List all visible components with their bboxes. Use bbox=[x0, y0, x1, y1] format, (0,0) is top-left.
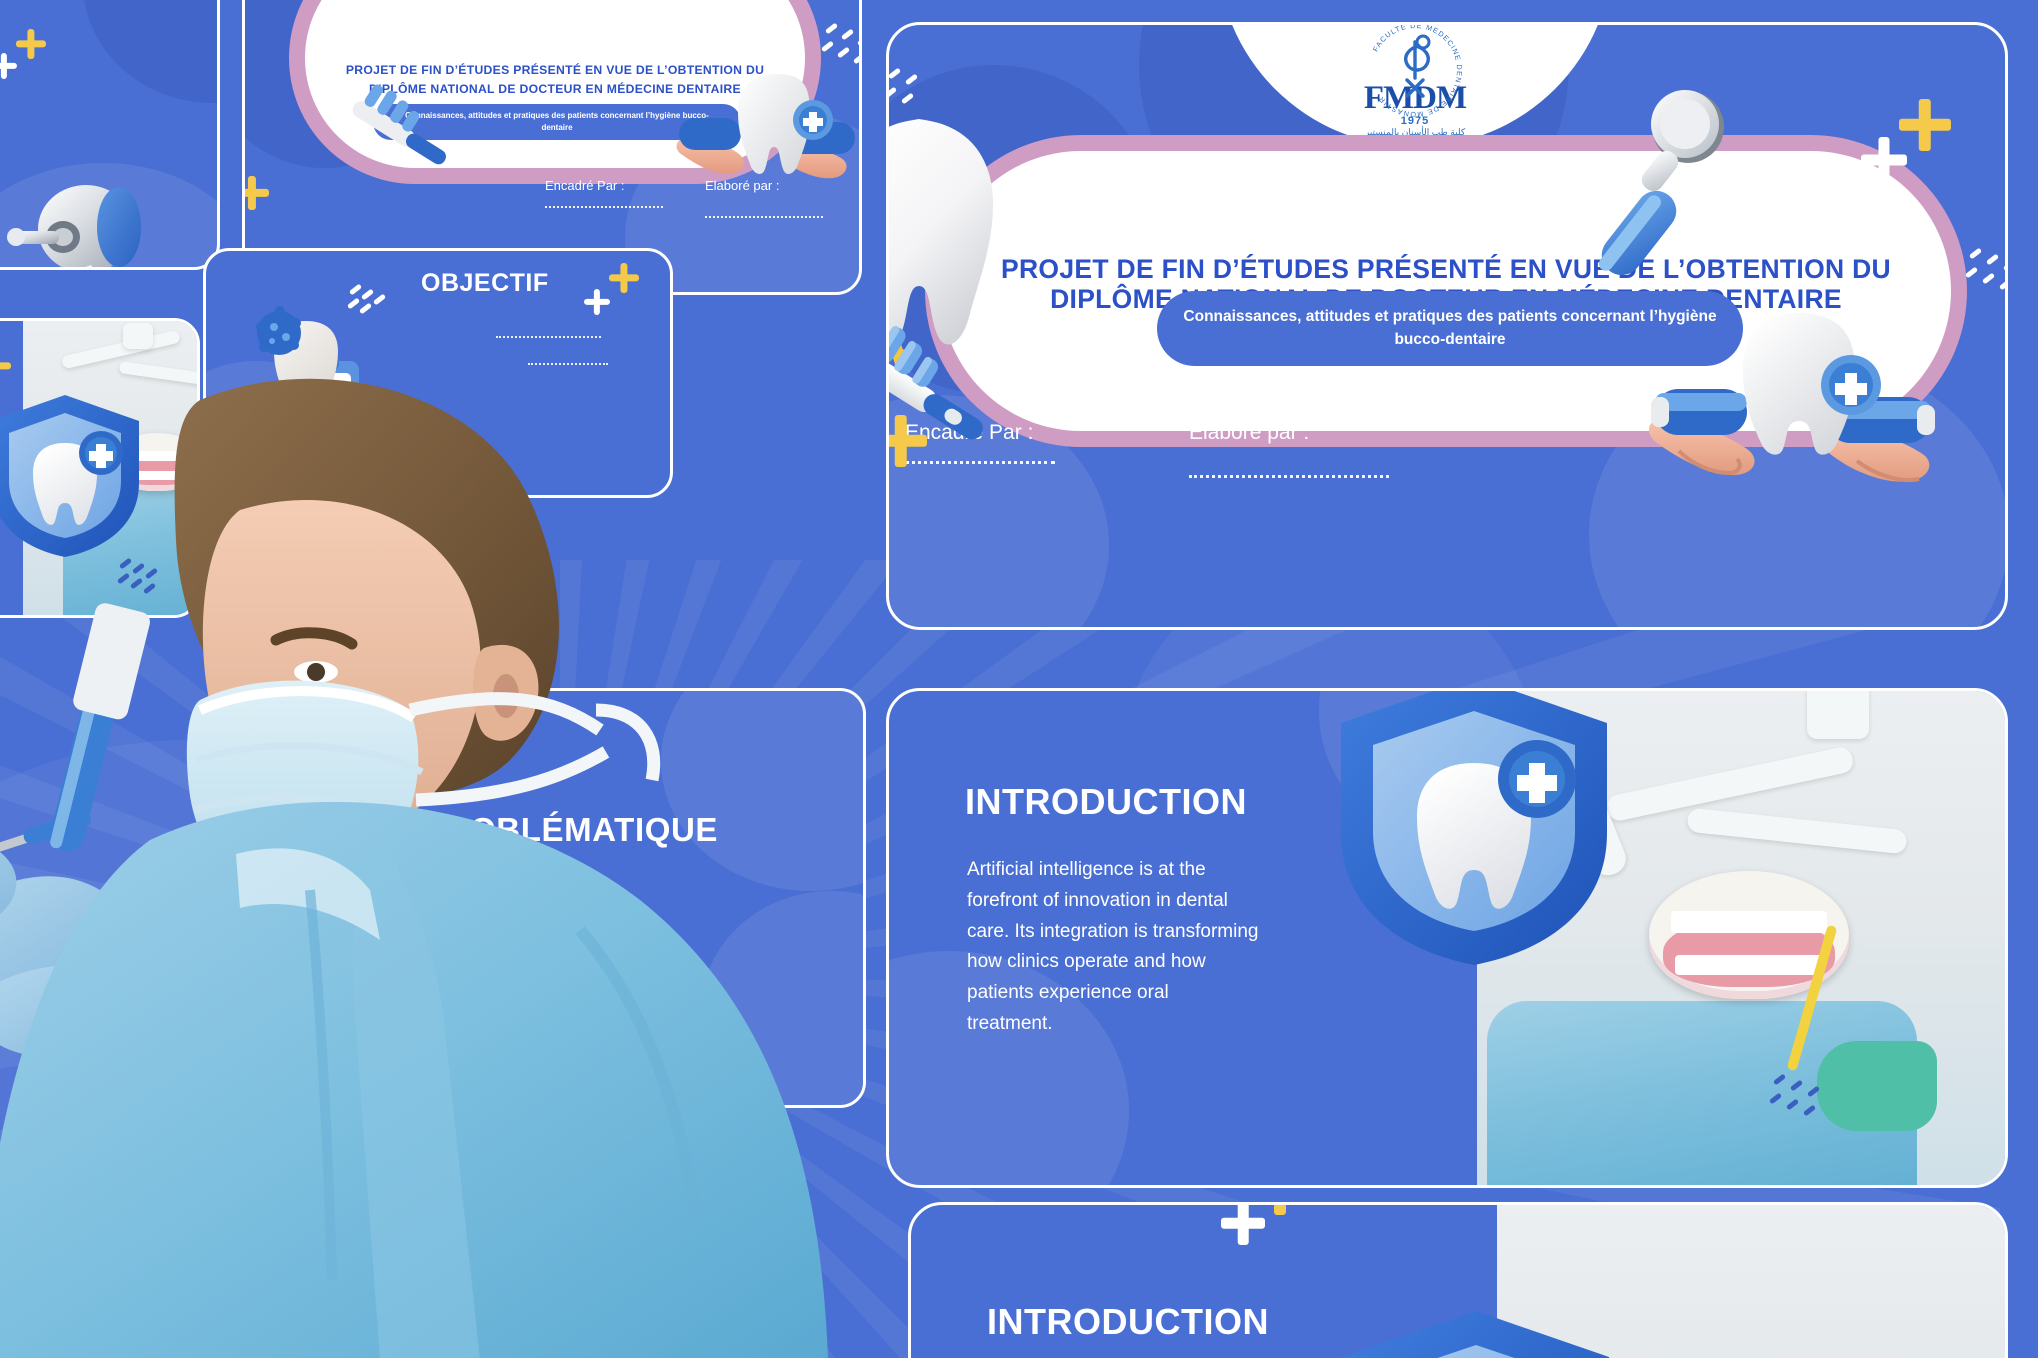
thumb-supervisor-label: Encadré Par : bbox=[545, 178, 625, 193]
plus-icon bbox=[0, 53, 17, 79]
university-logo-badge: FACULTE DE MEDECINE DENTAIRE DE MONASTIR… bbox=[1217, 22, 1613, 147]
slide-thumb-problematique[interactable]: PROBLÉMATIQUE bbox=[0, 0, 220, 270]
tooth-shield-icon bbox=[1331, 1305, 1621, 1358]
introduction-body-line: care. Its integration is transforming bbox=[967, 917, 1297, 948]
slide-gallery-canvas: PROBLÉMATIQUE bbox=[0, 0, 2038, 1358]
introduction-next-title: INTRODUCTION bbox=[987, 1301, 1269, 1343]
gloved-hand bbox=[1817, 1041, 1937, 1131]
logo-content: FACULTE DE MEDECINE DENTAIRE DE MONASTIR… bbox=[1361, 22, 1469, 138]
main-author-label-text: Elaboré par : bbox=[1189, 421, 1389, 445]
plus-icon bbox=[1221, 1202, 1265, 1245]
logo-ring-icon: FACULTE DE MEDECINE DENTAIRE DE MONASTIR bbox=[1361, 22, 1469, 124]
plus-icon bbox=[242, 176, 269, 210]
introduction-title: INTRODUCTION bbox=[965, 781, 1247, 823]
thumb-line bbox=[431, 936, 571, 939]
plus-icon bbox=[16, 29, 46, 59]
author-input-line[interactable] bbox=[1189, 475, 1389, 478]
thumb-line bbox=[528, 363, 608, 365]
plus-icon bbox=[1861, 137, 1907, 183]
hands-holding-tooth-icon bbox=[673, 60, 862, 210]
introduction-body-line: patients experience oral bbox=[967, 978, 1297, 1009]
thumb-supervisor-line bbox=[545, 206, 663, 208]
plus-icon bbox=[609, 263, 639, 293]
introduction-body-line: how clinics operate and how bbox=[967, 947, 1297, 978]
decor-blob bbox=[83, 0, 220, 103]
dental-mirror-icon bbox=[1593, 83, 1743, 313]
slide-thumb-shield[interactable] bbox=[0, 318, 200, 618]
plus-icon bbox=[584, 289, 610, 315]
tooth-shield-icon bbox=[1329, 688, 1619, 971]
main-title-heading-line1: PROJET DE FIN D’ÉTUDES PRÉSENTÉ EN VUE D… bbox=[951, 253, 1941, 285]
thumb-line bbox=[443, 969, 563, 972]
thumb-problematique-large-title: PROBLÉMATIQUE bbox=[423, 811, 718, 849]
introduction-body-line: Artificial intelligence is at the bbox=[967, 855, 1297, 886]
slide-main-introduction-next[interactable]: INTRODUCTION bbox=[908, 1202, 2008, 1358]
slide-thumb-problematique-large[interactable]: PROBLÉMATIQUE bbox=[228, 688, 866, 1108]
clinic-lamp-head bbox=[1807, 691, 1869, 739]
decor-blob bbox=[701, 891, 866, 1108]
decor-blob bbox=[661, 688, 866, 891]
jaw-teeth bbox=[1671, 911, 1827, 933]
subtitle-line-2: bucco-dentaire bbox=[1183, 328, 1717, 351]
introduction-body: Artificial intelligence is at the forefr… bbox=[967, 855, 1297, 1040]
slide-main-introduction[interactable]: INTRODUCTION Artificial intelligence is … bbox=[886, 688, 2008, 1188]
plus-icon bbox=[0, 351, 11, 381]
plus-icon bbox=[242, 204, 243, 234]
introduction-body-line: treatment. bbox=[967, 1009, 1297, 1040]
thumb-author-line bbox=[705, 216, 823, 218]
thumb-objectif-title: OBJECTIF bbox=[421, 269, 549, 298]
toothbrush-icon bbox=[886, 315, 999, 475]
dental-mirror-icon bbox=[643, 0, 753, 8]
logo-arabic-text: كلية طب الأسنان بالمنستير bbox=[1361, 127, 1469, 138]
tooth-shield-icon bbox=[0, 391, 148, 561]
thumb-line bbox=[443, 1001, 543, 1004]
introduction-body-line: forefront of innovation in dental bbox=[967, 886, 1297, 917]
bacteria-tooth-icon bbox=[244, 301, 364, 421]
slide-main-title[interactable]: FACULTE DE MEDECINE DENTAIRE DE MONASTIR… bbox=[886, 22, 2008, 630]
jaw-teeth bbox=[1675, 955, 1823, 975]
slide-thumb-objectif[interactable]: OBJECTIF bbox=[203, 248, 673, 498]
toothbrush-icon bbox=[337, 80, 457, 190]
hands-holding-tooth-icon bbox=[1649, 301, 1979, 531]
author-block: Elaboré par : bbox=[1189, 421, 1389, 478]
thumb-line bbox=[496, 336, 601, 338]
dash-sparkle-cluster bbox=[886, 65, 927, 117]
clinic-lamp-head bbox=[123, 323, 153, 349]
dental-handpiece-icon bbox=[0, 161, 181, 270]
